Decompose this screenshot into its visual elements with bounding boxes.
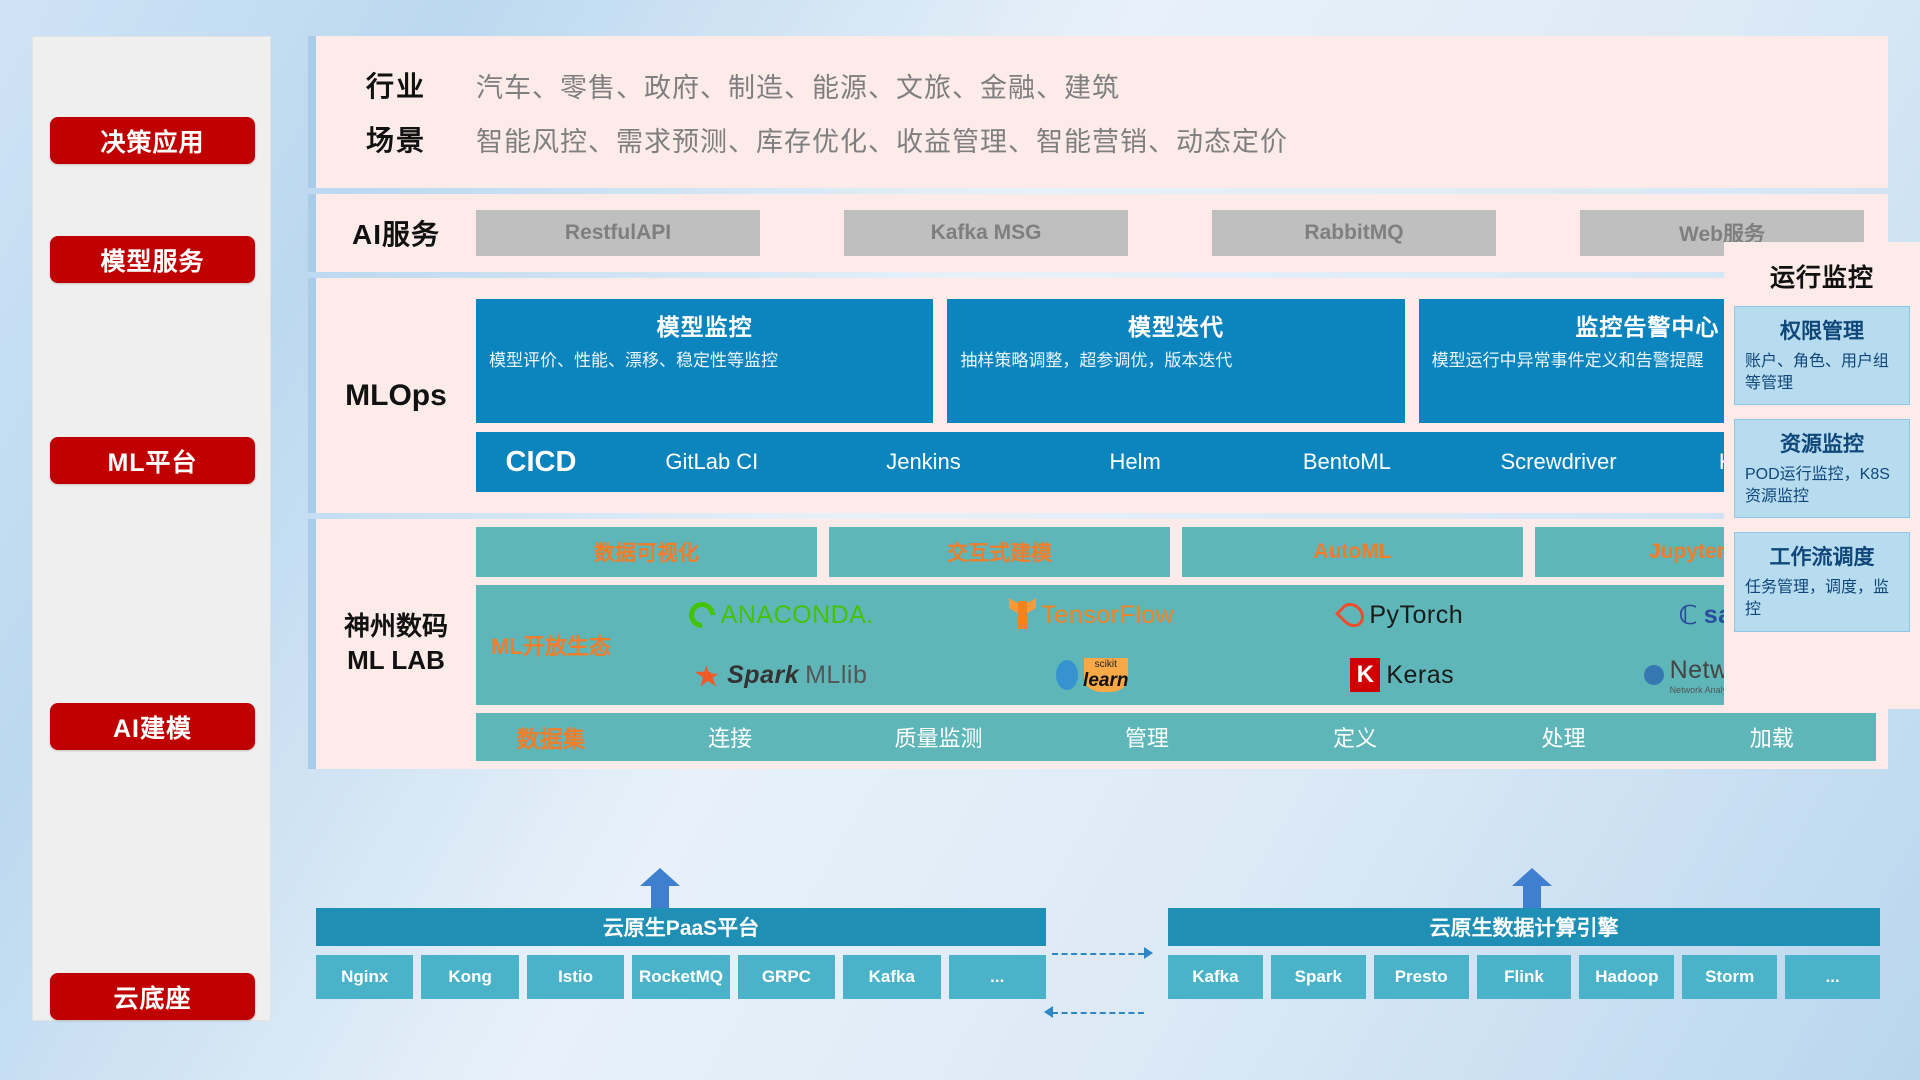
mlops-card-title: 模型迭代 — [960, 308, 1391, 342]
rail-label: 云底座 — [113, 979, 191, 1015]
ml-lab-chip[interactable]: 交互式建模 — [829, 527, 1170, 577]
ml-lab-key: 神州数码 ML LAB — [316, 610, 476, 678]
ai-service-items: RestfulAPI Kafka MSG RabbitMQ Web服务 — [476, 210, 1888, 256]
tensorflow-icon — [1009, 601, 1035, 629]
dataset-bar: 数据集 连接 质量监测 管理 定义 处理 加载 — [476, 713, 1876, 761]
cloud-base-section: 云原生PaaS平台 Nginx Kong Istio RocketMQ GRPC… — [308, 880, 1888, 1040]
paas-chip[interactable]: Istio — [527, 955, 624, 999]
dataset-label: 数据集 — [476, 720, 626, 754]
architecture-diagram: 决策应用 模型服务 ML平台 AI建模 云底座 行业 汽车、零售、政府、制造、能… — [0, 0, 1920, 1080]
data-engine-chip[interactable]: Spark — [1271, 955, 1366, 999]
spark-icon — [695, 664, 721, 686]
mlops-card[interactable]: 模型监控 模型评价、性能、漂移、稳定性等监控 — [476, 299, 933, 423]
paas-chip[interactable]: GRPC — [738, 955, 835, 999]
data-engine-chip[interactable]: Storm — [1682, 955, 1777, 999]
paas-chip[interactable]: ... — [949, 955, 1046, 999]
logo-label: learn — [1083, 670, 1128, 692]
paas-title: 云原生PaaS平台 — [316, 908, 1046, 946]
mlops-key: MLOps — [316, 379, 476, 413]
mlops-band: MLOps 模型监控 模型评价、性能、漂移、稳定性等监控 模型迭代 抽样策略调整… — [308, 278, 1888, 513]
mlops-card-desc: 模型评价、性能、漂移、稳定性等监控 — [489, 350, 920, 373]
rail-item-ai-modeling[interactable]: AI建模 — [50, 703, 255, 750]
logo-sub-label: Spark — [727, 661, 799, 690]
scenario-row: 场景 智能风控、需求预测、库存优化、收益管理、智能营销、动态定价 — [316, 112, 1888, 166]
scenario-key: 场景 — [316, 119, 476, 159]
rail-label: 模型服务 — [100, 242, 204, 278]
logo-item: Spark MLlib — [695, 661, 867, 690]
rail-label: ML平台 — [107, 443, 197, 479]
data-engine-chip[interactable]: Hadoop — [1579, 955, 1674, 999]
cicd-item[interactable]: GitLab CI — [606, 450, 818, 473]
monitor-card-title: 权限管理 — [1745, 315, 1899, 345]
ai-service-chip[interactable]: RabbitMQ — [1212, 210, 1496, 256]
ai-service-chip[interactable]: RestfulAPI — [476, 210, 760, 256]
data-engine-title: 云原生数据计算引擎 — [1168, 908, 1880, 946]
keras-icon: K — [1350, 658, 1380, 692]
cicd-item[interactable]: BentoML — [1241, 450, 1453, 473]
data-engine-column: 云原生数据计算引擎 Kafka Spark Presto Flink Hadoo… — [1168, 908, 1880, 999]
dataset-items: 连接 质量监测 管理 定义 处理 加载 — [626, 721, 1876, 753]
ecosystem-panel: ML开放生态 ANACONDA. TensorFlow PyTorc — [476, 585, 1876, 705]
industry-key: 行业 — [316, 65, 476, 105]
cicd-items: GitLab CI Jenkins Helm BentoML Screwdriv… — [606, 450, 1876, 473]
logo-label: PyTorch — [1369, 601, 1463, 630]
paas-column: 云原生PaaS平台 Nginx Kong Istio RocketMQ GRPC… — [316, 908, 1046, 999]
logo-label: TensorFlow — [1041, 601, 1174, 630]
runtime-monitor-panel: 运行监控 权限管理 账户、角色、用户组等管理 资源监控 POD运行监控，K8S资… — [1724, 242, 1920, 709]
rail-label: 决策应用 — [100, 123, 204, 159]
logo-item: scikit learn — [1056, 658, 1128, 692]
monitor-card[interactable]: 资源监控 POD运行监控，K8S资源监控 — [1734, 419, 1910, 518]
data-engine-chip[interactable]: Presto — [1374, 955, 1469, 999]
cicd-item[interactable]: Screwdriver — [1453, 450, 1665, 473]
ml-lab-key-line1: 神州数码 — [316, 610, 476, 644]
data-engine-chip[interactable]: ... — [1785, 955, 1880, 999]
paas-chip[interactable]: Kafka — [843, 955, 940, 999]
sas-icon: ℂ — [1679, 600, 1698, 631]
ml-lab-band: 神州数码 ML LAB 数据可视化 交互式建模 AutoML JupyterLa… — [308, 519, 1888, 769]
cicd-item[interactable]: Jenkins — [818, 450, 1030, 473]
ml-lab-chip[interactable]: 数据可视化 — [476, 527, 817, 577]
logo-item: PyTorch — [1341, 601, 1463, 630]
data-engine-chip-row: Kafka Spark Presto Flink Hadoop Storm ..… — [1168, 955, 1880, 999]
mlops-card[interactable]: 模型迭代 抽样策略调整，超参调优，版本迭代 — [947, 299, 1404, 423]
mlops-body: 模型监控 模型评价、性能、漂移、稳定性等监控 模型迭代 抽样策略调整，超参调优，… — [476, 299, 1888, 492]
rail-item-model-service[interactable]: 模型服务 — [50, 236, 255, 283]
dataset-item[interactable]: 处理 — [1459, 721, 1667, 753]
monitor-card-desc: 账户、角色、用户组等管理 — [1745, 351, 1899, 394]
mlops-card-desc: 抽样策略调整，超参调优，版本迭代 — [960, 350, 1391, 373]
dataset-item[interactable]: 质量监测 — [834, 721, 1042, 753]
ml-lab-body: 数据可视化 交互式建模 AutoML JupyterLab ML开放生态 ANA… — [476, 527, 1888, 761]
industry-scenario-band: 行业 汽车、零售、政府、制造、能源、文旅、金融、建筑 场景 智能风控、需求预测、… — [308, 36, 1888, 188]
layer-rail: 决策应用 模型服务 ML平台 AI建模 云底座 — [32, 36, 271, 1021]
monitor-card[interactable]: 权限管理 账户、角色、用户组等管理 — [1734, 306, 1910, 405]
logo-item: ANACONDA. — [689, 601, 874, 630]
data-engine-chip[interactable]: Flink — [1477, 955, 1572, 999]
ml-lab-chip-row: 数据可视化 交互式建模 AutoML JupyterLab — [476, 527, 1876, 577]
logo-item: K Keras — [1350, 658, 1454, 692]
paas-chip[interactable]: Kong — [421, 955, 518, 999]
cicd-title: CICD — [476, 446, 606, 479]
dataset-item[interactable]: 加载 — [1668, 721, 1876, 753]
mlops-card-row: 模型监控 模型评价、性能、漂移、稳定性等监控 模型迭代 抽样策略调整，超参调优，… — [476, 299, 1876, 423]
paas-chip[interactable]: RocketMQ — [632, 955, 729, 999]
dataset-item[interactable]: 管理 — [1043, 721, 1251, 753]
dataset-item[interactable]: 连接 — [626, 721, 834, 753]
monitor-card-desc: POD运行监控，K8S资源监控 — [1745, 464, 1899, 507]
monitor-title: 运行监控 — [1724, 242, 1920, 306]
ml-lab-key-line2: ML LAB — [316, 644, 476, 678]
mlops-card-title: 模型监控 — [489, 308, 920, 342]
paas-chip[interactable]: Nginx — [316, 955, 413, 999]
industry-row: 行业 汽车、零售、政府、制造、能源、文旅、金融、建筑 — [316, 58, 1888, 112]
cicd-item[interactable]: Helm — [1029, 450, 1241, 473]
rail-item-cloud-base[interactable]: 云底座 — [50, 973, 255, 1020]
scikit-blob-icon — [1056, 660, 1078, 690]
rail-item-ml-platform[interactable]: ML平台 — [50, 437, 255, 484]
monitor-card-desc: 任务管理，调度，监控 — [1745, 577, 1899, 620]
industry-values: 汽车、零售、政府、制造、能源、文旅、金融、建筑 — [476, 66, 1120, 105]
ai-service-key: AI服务 — [316, 213, 476, 253]
monitor-card-title: 资源监控 — [1745, 428, 1899, 458]
logo-label: Keras — [1386, 661, 1454, 690]
rail-label: AI建模 — [113, 709, 192, 745]
paas-chip-row: Nginx Kong Istio RocketMQ GRPC Kafka ... — [316, 955, 1046, 999]
ai-service-chip[interactable]: Kafka MSG — [844, 210, 1128, 256]
ecosystem-logo-grid: ANACONDA. TensorFlow PyTorch ℂ sa — [626, 585, 1876, 705]
scikit-learn-icon: scikit learn — [1084, 658, 1128, 692]
anaconda-icon — [683, 597, 720, 634]
pytorch-icon — [1335, 598, 1369, 632]
ml-lab-chip[interactable]: AutoML — [1182, 527, 1523, 577]
rail-item-decision-app[interactable]: 决策应用 — [50, 117, 255, 164]
logo-label: ANACONDA. — [721, 601, 874, 630]
logo-item: TensorFlow — [1009, 601, 1174, 630]
ai-service-band: AI服务 RestfulAPI Kafka MSG RabbitMQ Web服务 — [308, 194, 1888, 272]
networkx-icon — [1644, 665, 1664, 685]
dataset-item[interactable]: 定义 — [1251, 721, 1459, 753]
scenario-values: 智能风控、需求预测、库存优化、收益管理、智能营销、动态定价 — [476, 120, 1288, 159]
logo-sub-label: scikit — [1095, 659, 1117, 670]
data-engine-chip[interactable]: Kafka — [1168, 955, 1263, 999]
monitor-card-title: 工作流调度 — [1745, 541, 1899, 571]
ecosystem-label: ML开放生态 — [476, 629, 626, 661]
logo-label: MLlib — [805, 661, 867, 690]
main-stack: 行业 汽车、零售、政府、制造、能源、文旅、金融、建筑 场景 智能风控、需求预测、… — [308, 36, 1888, 775]
monitor-card[interactable]: 工作流调度 任务管理，调度，监控 — [1734, 532, 1910, 631]
cicd-bar: CICD GitLab CI Jenkins Helm BentoML Scre… — [476, 432, 1876, 492]
